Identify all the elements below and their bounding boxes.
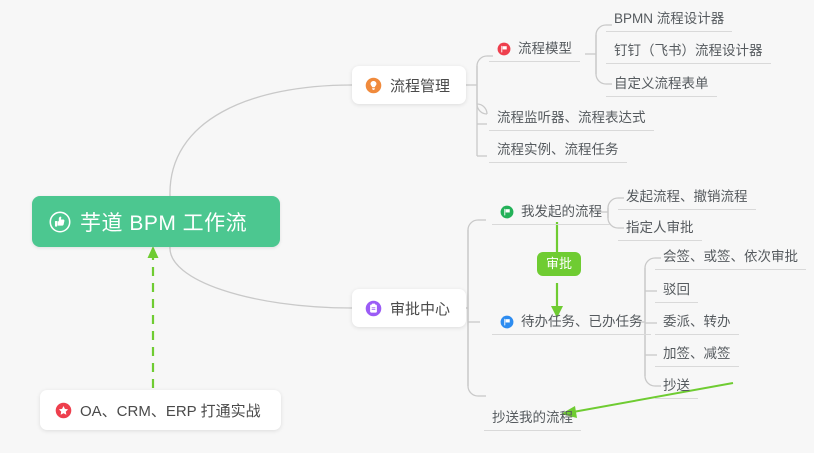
- branch-label-flow-management: 流程管理: [390, 75, 450, 96]
- leaf-label: 发起流程、撤销流程: [626, 189, 748, 205]
- leaf-label: 加签、减签: [663, 346, 731, 362]
- leaf-bpmn-designer[interactable]: BPMN 流程设计器: [606, 11, 732, 32]
- flag-icon: [500, 315, 514, 329]
- leaf-my-initiated[interactable]: 我发起的流程: [492, 204, 610, 225]
- leaf-add-remove-sign[interactable]: 加签、减签: [655, 346, 739, 367]
- leaf-flow-listener[interactable]: 流程监听器、流程表达式: [489, 110, 654, 131]
- leaf-countersign[interactable]: 会签、或签、依次审批: [655, 249, 806, 270]
- note-node-oa-crm-erp[interactable]: OA、CRM、ERP 打通实战: [40, 390, 281, 430]
- star-icon: [55, 402, 72, 419]
- leaf-carbon-copy[interactable]: 抄送: [655, 378, 698, 399]
- leaf-delegate-transfer[interactable]: 委派、转办: [655, 314, 739, 335]
- leaf-flow-model[interactable]: 流程模型: [489, 41, 580, 62]
- mindmap-canvas: 芋道 BPM 工作流 流程管理 审批中心 流程模型 流程监听器、流: [0, 0, 814, 453]
- leaf-label: 抄送: [663, 378, 690, 394]
- leaf-label: 待办任务、已办任务: [521, 314, 643, 330]
- leaf-label: 我发起的流程: [521, 204, 602, 220]
- arrow-cc-to-ccmine: [561, 383, 733, 418]
- leaf-label: 抄送我的流程: [492, 410, 573, 426]
- leaf-flow-instance[interactable]: 流程实例、流程任务: [489, 142, 627, 163]
- note-label-oa-crm-erp: OA、CRM、ERP 打通实战: [80, 400, 261, 421]
- branch-node-flow-management[interactable]: 流程管理: [352, 66, 466, 104]
- wire-approval-bracket: [468, 220, 478, 396]
- wire-root-to-flowmgmt: [170, 85, 352, 196]
- approval-flow-badge: 审批: [537, 252, 581, 276]
- root-label: 芋道 BPM 工作流: [80, 207, 247, 237]
- clipboard-icon: [365, 300, 382, 317]
- leaf-label: 流程实例、流程任务: [497, 142, 619, 158]
- branch-label-approval-center: 审批中心: [390, 298, 450, 319]
- leaf-label: 钉钉（飞书）流程设计器: [614, 43, 763, 59]
- branch-node-approval-center[interactable]: 审批中心: [352, 289, 466, 327]
- wire-flowmgmt-bracket: [477, 56, 487, 114]
- leaf-todo-done-tasks[interactable]: 待办任务、已办任务: [492, 314, 651, 335]
- leaf-cc-to-me[interactable]: 抄送我的流程: [484, 410, 581, 431]
- thumbs-up-icon: [49, 211, 71, 233]
- root-node[interactable]: 芋道 BPM 工作流: [32, 196, 280, 247]
- leaf-dingtalk-designer[interactable]: 钉钉（飞书）流程设计器: [606, 43, 771, 64]
- leaf-label: 流程监听器、流程表达式: [497, 110, 646, 126]
- leaf-label: 流程模型: [518, 41, 572, 57]
- leaf-start-cancel-flow[interactable]: 发起流程、撤销流程: [618, 189, 756, 210]
- wire-model-bracket: [596, 25, 606, 84]
- leaf-custom-form[interactable]: 自定义流程表单: [606, 76, 717, 97]
- leaf-label: 委派、转办: [663, 314, 731, 330]
- flag-icon: [500, 205, 514, 219]
- leaf-label: 自定义流程表单: [614, 76, 709, 92]
- leaf-label: 驳回: [663, 282, 690, 298]
- leaf-label: BPMN 流程设计器: [614, 11, 724, 27]
- leaf-label: 会签、或签、依次审批: [663, 249, 798, 265]
- arrow-oa-to-root: [148, 246, 159, 388]
- flag-icon: [497, 42, 511, 56]
- lightbulb-icon: [365, 77, 382, 94]
- leaf-reject[interactable]: 驳回: [655, 282, 698, 303]
- wire-root-to-approval: [170, 247, 352, 308]
- leaf-label: 指定人审批: [626, 220, 694, 236]
- leaf-assignee-approval[interactable]: 指定人审批: [618, 220, 702, 241]
